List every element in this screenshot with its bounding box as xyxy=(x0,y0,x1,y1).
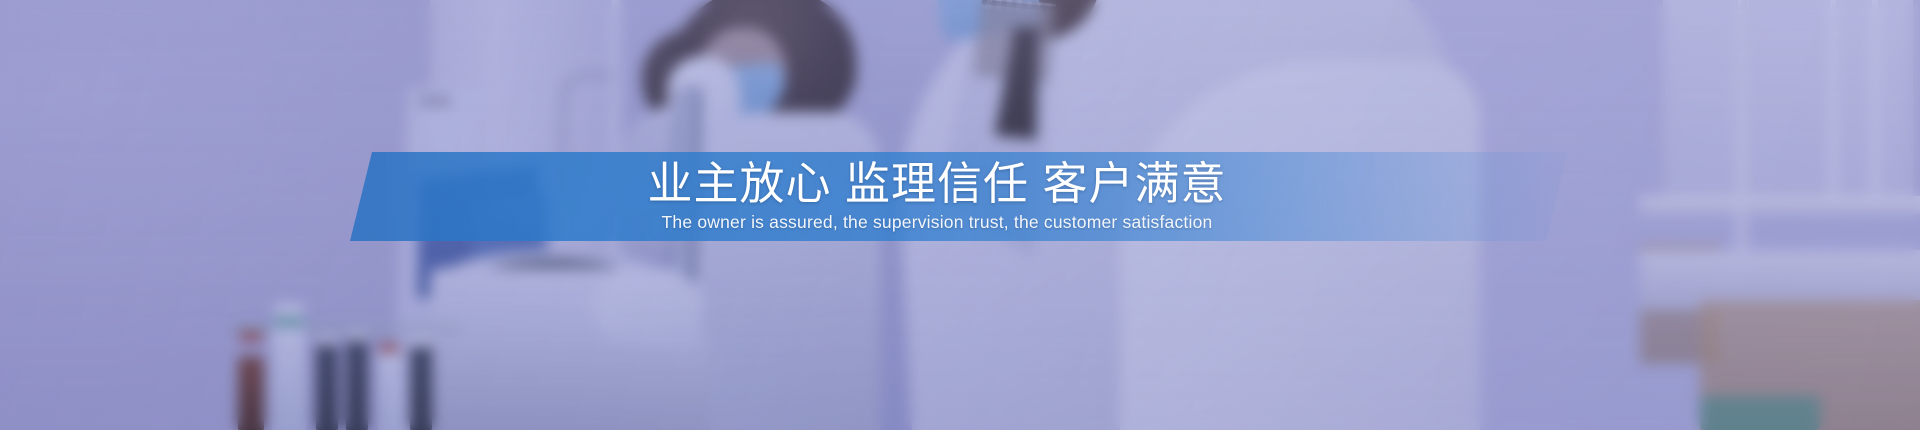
caption-band xyxy=(350,152,1568,241)
caption-band-sheen xyxy=(350,152,1568,241)
hero-banner: 业主放心 监理信任 客户满意 The owner is assured, the… xyxy=(0,0,1920,430)
